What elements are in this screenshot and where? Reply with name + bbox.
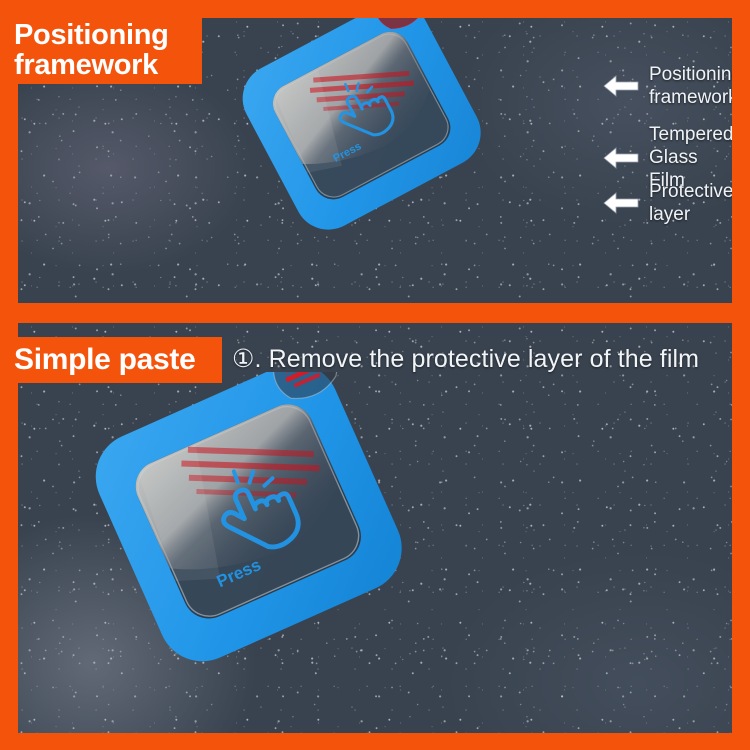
badge-positioning-framework: Positioning framework	[0, 18, 202, 84]
arrow-left-icon	[602, 146, 640, 170]
infographic-page: Press Positioning framework Tempered Gla…	[0, 0, 750, 750]
callout-label-line: layer	[649, 203, 732, 226]
callout-label-line: Positioning	[649, 63, 732, 86]
callout-label-line: Tempered	[649, 123, 732, 146]
step-instruction-text: ①. Remove the protective layer of the fi…	[232, 344, 699, 374]
badge-line: Simple paste	[14, 345, 222, 376]
callout-label: Protective layer	[649, 180, 732, 226]
arrow-left-icon	[602, 191, 640, 215]
badge-line: framework	[14, 51, 202, 81]
callout-label: Positioning framework	[649, 63, 732, 109]
arrow-left-icon	[602, 74, 640, 98]
product-illustration-top: Press	[233, 18, 533, 260]
badge-simple-paste: Simple paste	[0, 337, 222, 383]
badge-line: Positioning	[14, 21, 202, 51]
callout-positioning-framework: Positioning framework	[602, 63, 732, 109]
product-illustration-bottom: Press	[95, 372, 475, 744]
callout-protective-layer: Protective layer	[602, 180, 732, 226]
callout-label-line: framework	[649, 86, 732, 109]
callout-label-line: Protective	[649, 180, 732, 203]
